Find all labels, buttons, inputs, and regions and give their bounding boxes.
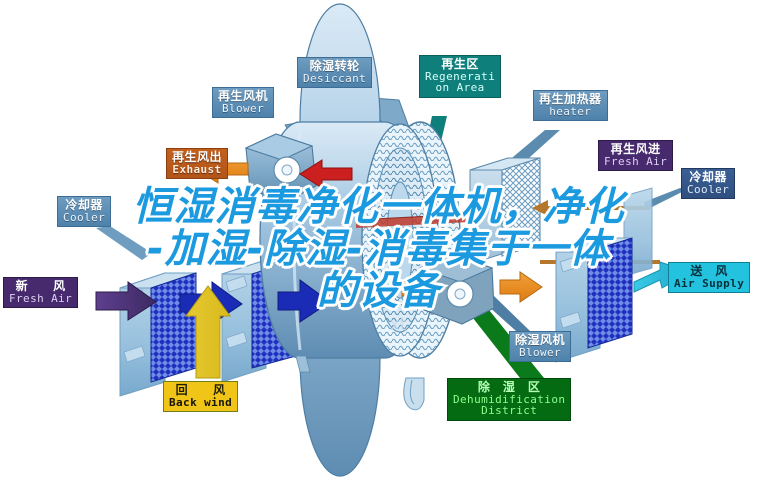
artwork-watermark: xt	[390, 315, 407, 335]
callout-cn-text: 再生风进	[604, 143, 667, 156]
callout-en-text: Back wind	[169, 397, 232, 409]
callout-en-text: Air Supply	[674, 278, 744, 290]
callout-cn-text: 除 湿 区	[453, 381, 565, 394]
callout-en-text: Cooler	[63, 212, 105, 224]
callout-en-text: Fresh Air	[9, 293, 72, 305]
dehumidifier-schematic-artwork: xt	[0, 0, 757, 488]
regeneration-heater-block	[470, 158, 540, 264]
callout-en-line2: on Area	[425, 82, 495, 94]
callout-en-text: Desiccant	[303, 73, 366, 85]
callout-en-line2: District	[453, 405, 565, 417]
callout-cn-text: 再生加热器	[539, 93, 602, 106]
callout-regeneration-heater[interactable]: 再生加热器 heater	[533, 90, 608, 121]
callout-back-wind[interactable]: 回 风 Back wind	[163, 381, 238, 412]
condensate-drain-loop	[404, 378, 424, 410]
callout-cn-text: 冷却器	[687, 171, 729, 184]
callout-en-text: Exhaust	[172, 164, 222, 176]
callout-cn-text: 送 风	[674, 265, 744, 278]
diagram-canvas: xt	[0, 0, 757, 488]
callout-fresh-air-inlet[interactable]: 新 风 Fresh Air	[3, 277, 78, 308]
callout-regeneration-blower[interactable]: 再生风机 Blower	[212, 87, 274, 118]
callout-dehumidification-district[interactable]: 除 湿 区 Dehumidification District	[447, 378, 571, 421]
callout-cn-text: 冷却器	[63, 199, 105, 212]
callout-en-text: heater	[539, 106, 602, 118]
callout-cn-text: 除湿风机	[515, 334, 565, 347]
callout-cooler-right[interactable]: 冷却器 Cooler	[681, 168, 735, 199]
callout-air-supply[interactable]: 送 风 Air Supply	[668, 262, 750, 293]
callout-en-text: Cooler	[687, 184, 729, 196]
callout-desiccant-wheel[interactable]: 除湿转轮 Desiccant	[297, 57, 372, 88]
callout-regeneration-air-inlet[interactable]: 再生风进 Fresh Air	[598, 140, 673, 171]
callout-cn-text: 再生风机	[218, 90, 268, 103]
callout-en-text: Blower	[515, 347, 565, 359]
callout-regeneration-area[interactable]: 再生区 Regenerati on Area	[419, 55, 501, 98]
callout-dehumidification-blower[interactable]: 除湿风机 Blower	[509, 331, 571, 362]
callout-cn-text: 回 风	[169, 384, 232, 397]
callout-en-text: Fresh Air	[604, 156, 667, 168]
callout-en-text: Blower	[218, 103, 268, 115]
callout-cn-text: 除湿转轮	[303, 60, 366, 73]
callout-cooler-left[interactable]: 冷却器 Cooler	[57, 196, 111, 227]
callout-cn-text: 再生区	[425, 58, 495, 71]
callout-cn-text: 再生风出	[172, 151, 222, 164]
regeneration-blower-housing	[246, 134, 316, 202]
callout-cn-text: 新 风	[9, 280, 72, 293]
callout-exhaust[interactable]: 再生风出 Exhaust	[166, 148, 228, 179]
